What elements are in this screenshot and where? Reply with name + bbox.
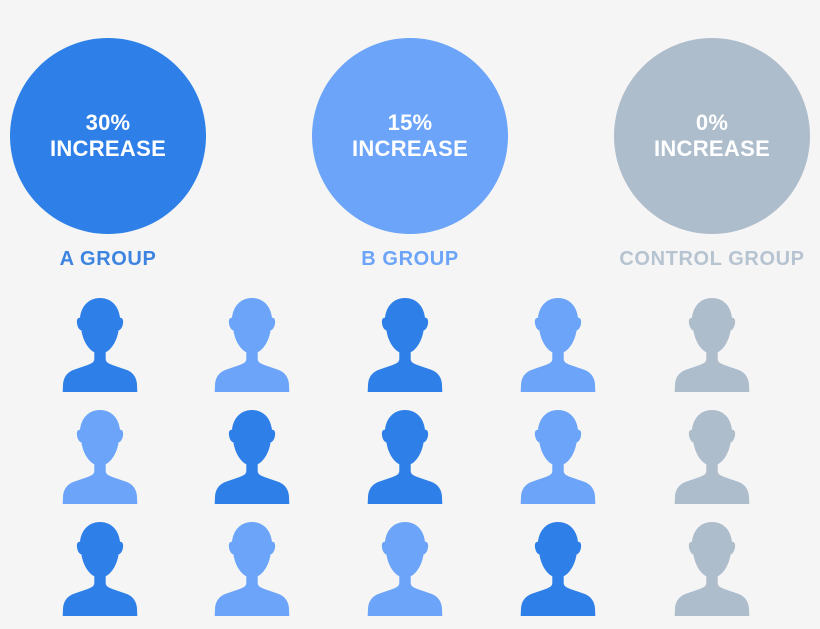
person-silhouette-icon — [666, 296, 758, 392]
group-name-a: A GROUP — [8, 248, 208, 271]
groups-summary-row: 30% INCREASE A GROUP 15% INCREASE B GROU… — [0, 0, 820, 290]
person-silhouette-icon — [512, 520, 604, 616]
person-silhouette-shape — [512, 296, 604, 392]
person-silhouette-shape — [666, 296, 758, 392]
person-silhouette-icon — [206, 408, 298, 504]
person-silhouette-shape — [359, 296, 451, 392]
group-circle-b: 15% INCREASE — [312, 38, 508, 234]
person-silhouette-shape — [206, 520, 298, 616]
group-name-b: B GROUP — [310, 248, 510, 271]
person-silhouette-shape — [206, 408, 298, 504]
group-increase-label-a: INCREASE — [50, 136, 166, 162]
person-silhouette-shape — [512, 520, 604, 616]
people-pictogram-grid — [0, 296, 820, 629]
person-silhouette-shape — [54, 520, 146, 616]
person-silhouette-icon — [512, 408, 604, 504]
person-silhouette-shape — [54, 408, 146, 504]
person-silhouette-shape — [206, 296, 298, 392]
person-silhouette-icon — [666, 408, 758, 504]
group-percent-b: 15% — [388, 110, 433, 136]
group-circle-a: 30% INCREASE — [10, 38, 206, 234]
person-silhouette-icon — [54, 408, 146, 504]
people-row — [0, 296, 820, 392]
group-circle-control: 0% INCREASE — [614, 38, 810, 234]
person-silhouette-icon — [206, 296, 298, 392]
people-row — [0, 408, 820, 504]
group-increase-label-b: INCREASE — [352, 136, 468, 162]
people-row — [0, 520, 820, 616]
person-silhouette-shape — [54, 296, 146, 392]
person-silhouette-shape — [359, 520, 451, 616]
person-silhouette-shape — [666, 408, 758, 504]
person-silhouette-shape — [666, 520, 758, 616]
person-silhouette-icon — [359, 408, 451, 504]
person-silhouette-shape — [359, 408, 451, 504]
infographic-canvas: 30% INCREASE A GROUP 15% INCREASE B GROU… — [0, 0, 820, 629]
person-silhouette-shape — [512, 408, 604, 504]
person-silhouette-icon — [54, 296, 146, 392]
group-name-control: CONTROL GROUP — [606, 248, 818, 271]
person-silhouette-icon — [206, 520, 298, 616]
group-percent-a: 30% — [86, 110, 131, 136]
person-silhouette-icon — [359, 520, 451, 616]
group-column-control: 0% INCREASE CONTROL GROUP — [612, 0, 812, 290]
person-silhouette-icon — [666, 520, 758, 616]
person-silhouette-icon — [359, 296, 451, 392]
person-silhouette-icon — [54, 520, 146, 616]
group-column-b: 15% INCREASE B GROUP — [310, 0, 510, 290]
group-increase-label-control: INCREASE — [654, 136, 770, 162]
group-column-a: 30% INCREASE A GROUP — [8, 0, 208, 290]
person-silhouette-icon — [512, 296, 604, 392]
group-percent-control: 0% — [696, 110, 728, 136]
